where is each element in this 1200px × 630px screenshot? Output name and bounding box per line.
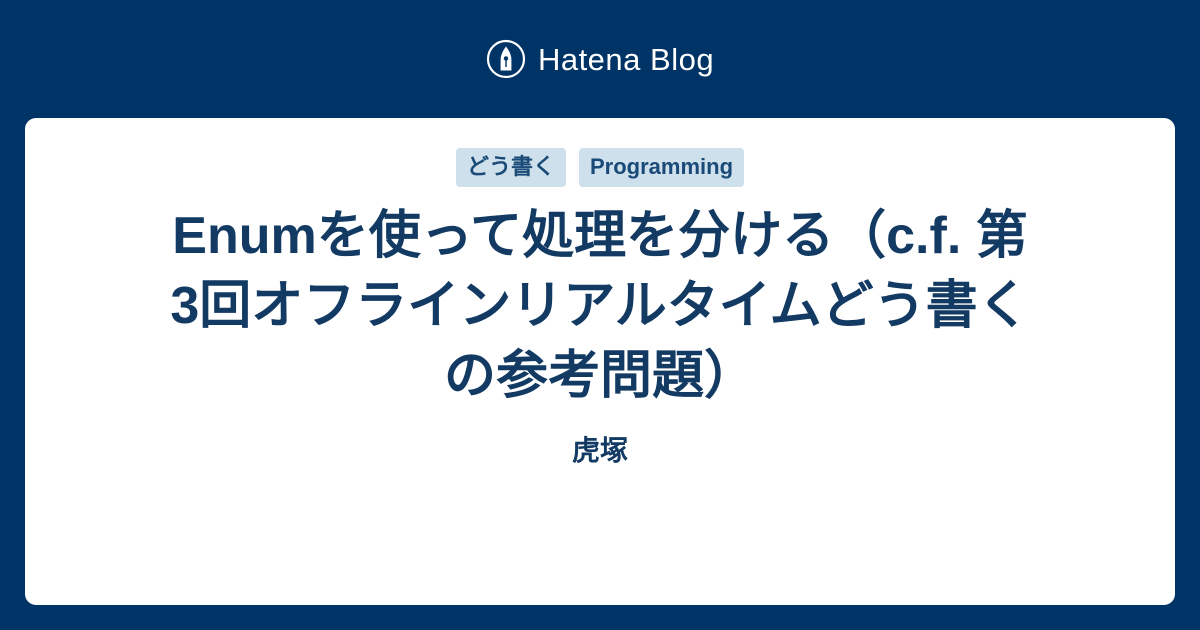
hatena-pen-nib-icon — [486, 39, 526, 79]
brand-header: Hatena Blog — [0, 0, 1200, 118]
entry-card: どう書く Programming Enumを使って処理を分ける（c.f. 第3回… — [25, 118, 1175, 605]
entry-title: Enumを使って処理を分ける（c.f. 第3回オフラインリアルタイムどう書くの参… — [160, 201, 1040, 411]
ogp-card-root: Hatena Blog どう書く Programming Enumを使って処理を… — [0, 0, 1200, 630]
entry-author: 虎塚 — [572, 437, 628, 465]
brand-name: Hatena Blog — [538, 44, 714, 75]
tag-badge[interactable]: どう書く — [456, 148, 566, 187]
tag-list: どう書く Programming — [456, 148, 744, 187]
tag-badge[interactable]: Programming — [579, 148, 744, 187]
